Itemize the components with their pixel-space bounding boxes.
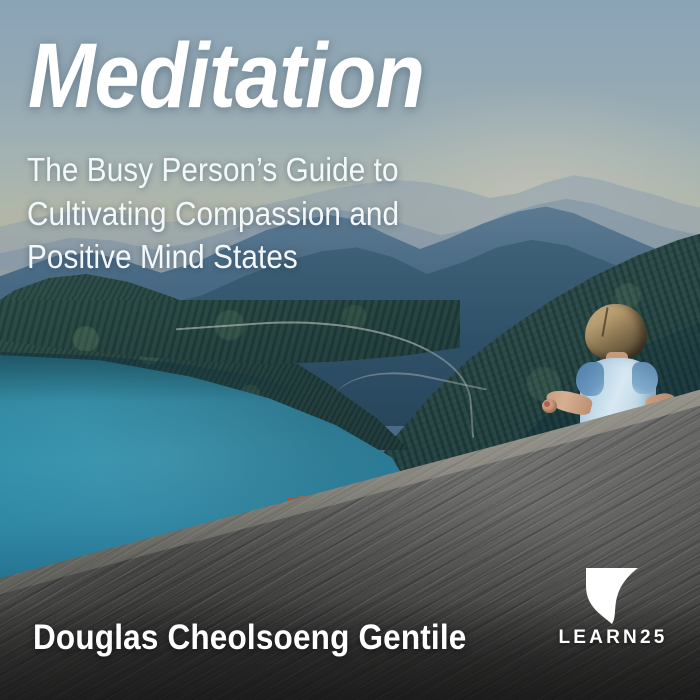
author-name: Douglas Cheolsoeng Gentile (33, 618, 466, 658)
figure-shoulder-right (632, 362, 658, 394)
figure-shoulder-left (576, 362, 604, 396)
learn25-logo: LEARN25 (553, 565, 673, 660)
audiobook-cover: Meditation The Busy Person’s Guide to Cu… (0, 0, 700, 700)
subtitle-line-3: Positive Mind States (27, 235, 399, 279)
subtitle-line-1: The Busy Person’s Guide to (27, 148, 399, 192)
subtitle-line-2: Cultivating Compassion and (27, 192, 399, 236)
cover-title: Meditation (28, 28, 424, 125)
learn25-wordmark: LEARN25 (553, 627, 673, 649)
figure-fingertip (544, 401, 550, 407)
learn25-leaf-icon (581, 565, 643, 627)
cover-subtitle: The Busy Person’s Guide to Cultivating C… (27, 148, 399, 279)
